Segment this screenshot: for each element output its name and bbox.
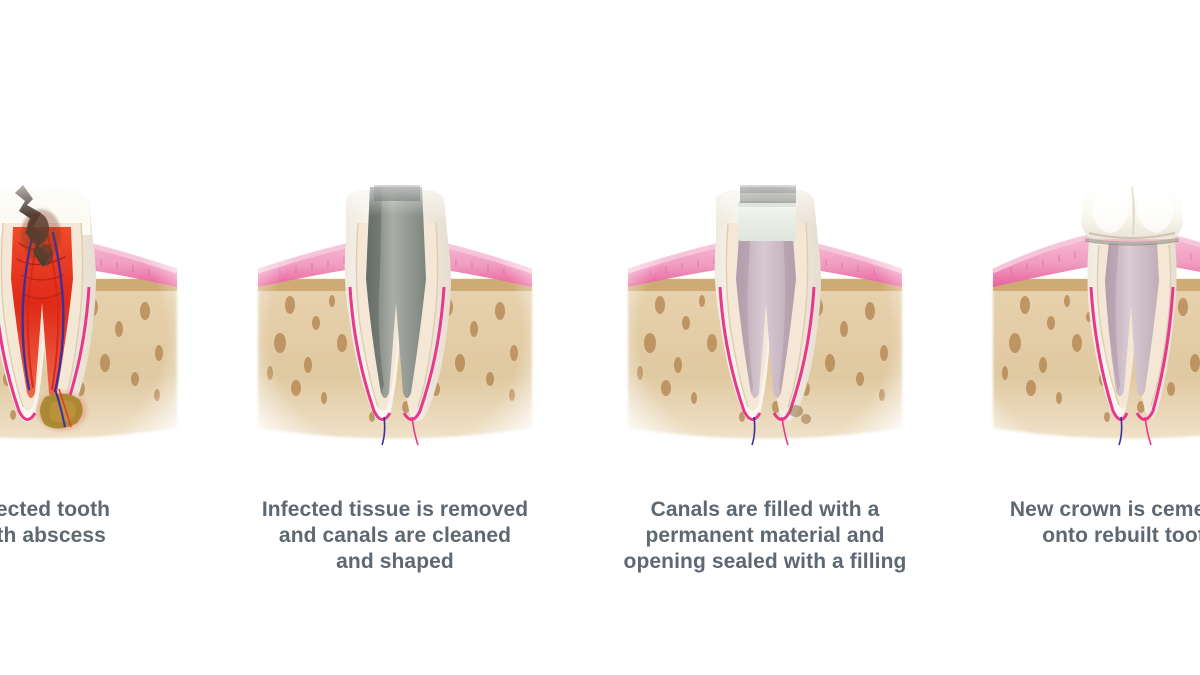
caption-line: permanent material and	[620, 523, 910, 549]
cleaned-canals-illustration	[250, 183, 540, 455]
caption-line: opening sealed with a filling	[620, 549, 910, 575]
caption-line: Infected tissue is removed	[250, 497, 540, 523]
panel-step-4: New crown is cemented onto rebuilt tooth	[985, 0, 1200, 675]
panel-2-caption: Infected tissue is removed and canals ar…	[250, 497, 540, 575]
diagram-canvas: Infected tooth with abscess	[0, 0, 1200, 675]
filled-canals-illustration	[620, 183, 910, 455]
caption-line: and shaped	[250, 549, 540, 575]
caption-line: onto rebuilt tooth	[985, 523, 1200, 549]
caption-line: Canals are filled with a	[620, 497, 910, 523]
caption-line: with abscess	[0, 523, 185, 549]
panel-step-2: Infected tissue is removed and canals ar…	[250, 0, 540, 675]
caption-line: Infected tooth	[0, 497, 185, 523]
caption-line: New crown is cemented	[985, 497, 1200, 523]
infected-tooth-with-abscess-illustration	[0, 183, 185, 455]
panel-step-1: Infected tooth with abscess	[0, 0, 185, 675]
panel-3-caption: Canals are filled with a permanent mater…	[620, 497, 910, 575]
cemented-crown-illustration	[985, 183, 1200, 455]
panel-1-caption: Infected tooth with abscess	[0, 497, 185, 549]
caption-line: and canals are cleaned	[250, 523, 540, 549]
panel-4-caption: New crown is cemented onto rebuilt tooth	[985, 497, 1200, 549]
panel-step-3: Canals are filled with a permanent mater…	[620, 0, 910, 675]
